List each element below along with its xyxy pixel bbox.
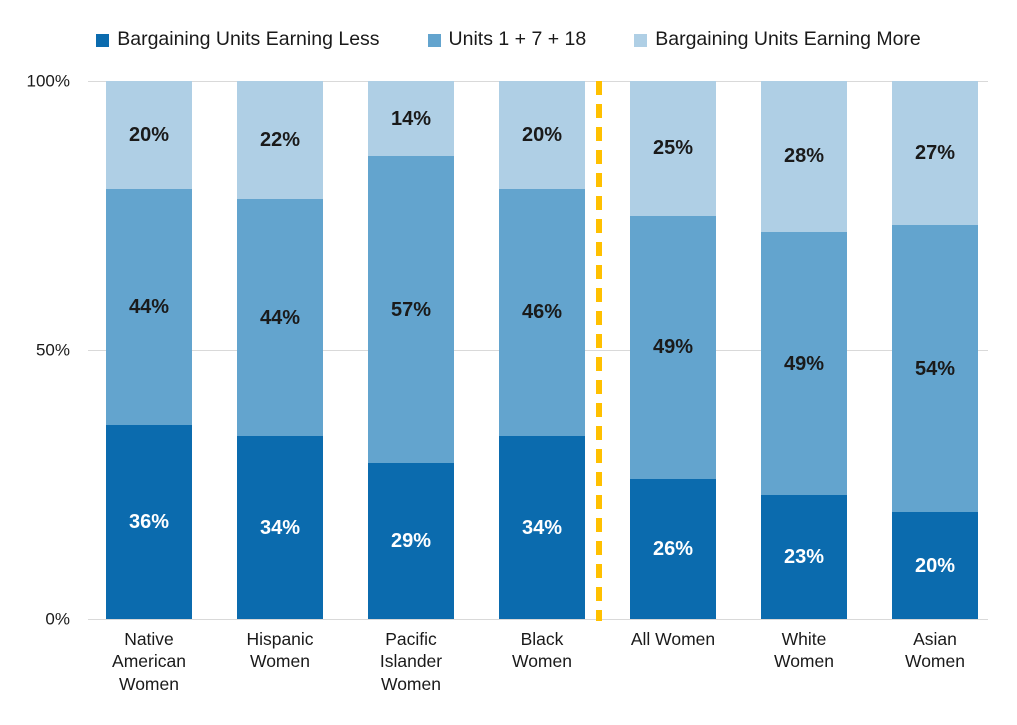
bar-group-pacific-islander-women[interactable]: 14% 57% 29% — [368, 81, 454, 619]
legend-swatch-icon — [428, 34, 441, 47]
x-axis-tick-pacific-islander-women: Pacific Islander Women — [353, 628, 469, 695]
x-axis-tick-line: White — [746, 628, 862, 650]
y-axis-tick-label: 100% — [27, 73, 70, 90]
legend-swatch-icon — [634, 34, 647, 47]
bar-segment-earning-less[interactable]: 29% — [368, 463, 454, 619]
x-axis-tick-line: Hispanic — [222, 628, 338, 650]
x-axis-tick-line: Pacific — [353, 628, 469, 650]
bar-segment-label: 54% — [915, 359, 955, 379]
y-axis: 100% 50% 0% — [0, 81, 80, 620]
bar-segment-units[interactable]: 46% — [499, 189, 585, 437]
bar-segment-earning-more[interactable]: 14% — [368, 81, 454, 156]
bar-segment-earning-more[interactable]: 20% — [106, 81, 192, 189]
bar-segment-label: 28% — [784, 146, 824, 166]
x-axis-tick-native-american-women: Native American Women — [91, 628, 207, 695]
bar-group-black-women[interactable]: 20% 46% 34% — [499, 81, 585, 619]
bar-series-container: 20% 44% 36% 22% 44% 34% 14% 57% 29% 20% … — [88, 81, 988, 620]
x-axis-tick-line: Women — [877, 650, 993, 672]
bar-segment-label: 14% — [391, 109, 431, 129]
bar-group-hispanic-women[interactable]: 22% 44% 34% — [237, 81, 323, 619]
bar-group-native-american-women[interactable]: 20% 44% 36% — [106, 81, 192, 619]
bar-group-all-women[interactable]: 25% 49% 26% — [630, 81, 716, 619]
x-axis: Native American Women Hispanic Women Pac… — [88, 628, 988, 723]
legend-item-earning-more[interactable]: Bargaining Units Earning More — [634, 30, 921, 50]
x-axis-tick-line: Black — [484, 628, 600, 650]
bar-segment-earning-more[interactable]: 20% — [499, 81, 585, 189]
bar-segment-units[interactable]: 57% — [368, 156, 454, 463]
legend-item-units-1-7-18[interactable]: Units 1 + 7 + 18 — [428, 30, 587, 50]
bar-segment-label: 25% — [653, 138, 693, 158]
bar-segment-label: 34% — [260, 518, 300, 538]
bar-segment-units[interactable]: 49% — [761, 232, 847, 496]
x-axis-tick-line: Women — [484, 650, 600, 672]
x-axis-tick-white-women: White Women — [746, 628, 862, 673]
x-axis-tick-line: Women — [746, 650, 862, 672]
bar-segment-units[interactable]: 49% — [630, 216, 716, 480]
bar-segment-label: 36% — [129, 512, 169, 532]
x-axis-tick-line: Women — [222, 650, 338, 672]
bar-segment-label: 29% — [391, 531, 431, 551]
x-axis-tick-line: Asian — [877, 628, 993, 650]
x-axis-tick-line: American — [91, 650, 207, 672]
bar-segment-units[interactable]: 44% — [237, 199, 323, 436]
legend-item-label: Bargaining Units Earning Less — [117, 30, 379, 50]
x-axis-tick-line: Women — [91, 673, 207, 695]
x-axis-tick-line: Islander — [353, 650, 469, 672]
bar-segment-label: 23% — [784, 547, 824, 567]
bar-segment-earning-more[interactable]: 22% — [237, 81, 323, 199]
bar-segment-earning-more[interactable]: 28% — [761, 81, 847, 232]
bar-segment-earning-more[interactable]: 27% — [892, 81, 978, 225]
bar-segment-label: 57% — [391, 300, 431, 320]
bar-segment-label: 20% — [522, 125, 562, 145]
bar-segment-label: 27% — [915, 143, 955, 163]
bar-segment-label: 20% — [915, 556, 955, 576]
bar-segment-label: 46% — [522, 302, 562, 322]
x-axis-tick-asian-women: Asian Women — [877, 628, 993, 673]
bar-segment-earning-less[interactable]: 23% — [761, 495, 847, 619]
bar-segment-units[interactable]: 54% — [892, 225, 978, 513]
legend-swatch-icon — [96, 34, 109, 47]
bar-segment-label: 22% — [260, 130, 300, 150]
bar-group-asian-women[interactable]: 27% 54% 20% — [892, 81, 978, 619]
x-axis-tick-hispanic-women: Hispanic Women — [222, 628, 338, 673]
y-axis-tick-label: 0% — [45, 611, 70, 628]
x-axis-tick-all-women: All Women — [615, 628, 731, 650]
chart-legend: Bargaining Units Earning Less Units 1 + … — [0, 26, 1017, 54]
y-axis-tick-label: 50% — [36, 342, 70, 359]
x-axis-tick-line: Native — [91, 628, 207, 650]
bar-segment-earning-less[interactable]: 34% — [499, 436, 585, 619]
bar-segment-label: 44% — [260, 308, 300, 328]
legend-item-label: Units 1 + 7 + 18 — [449, 30, 587, 50]
bar-segment-label: 49% — [653, 337, 693, 357]
bar-segment-earning-less[interactable]: 26% — [630, 479, 716, 619]
bar-segment-earning-more[interactable]: 25% — [630, 81, 716, 216]
bar-segment-earning-less[interactable]: 20% — [892, 512, 978, 619]
bar-segment-units[interactable]: 44% — [106, 189, 192, 426]
bar-segment-earning-less[interactable]: 36% — [106, 425, 192, 619]
legend-item-label: Bargaining Units Earning More — [655, 30, 921, 50]
bar-segment-label: 44% — [129, 297, 169, 317]
bar-segment-label: 49% — [784, 354, 824, 374]
group-divider-dashed-line — [596, 81, 602, 621]
bar-segment-earning-less[interactable]: 34% — [237, 436, 323, 619]
x-axis-tick-black-women: Black Women — [484, 628, 600, 673]
bar-segment-label: 34% — [522, 518, 562, 538]
bar-segment-label: 20% — [129, 125, 169, 145]
x-axis-tick-line: Women — [353, 673, 469, 695]
bar-segment-label: 26% — [653, 539, 693, 559]
x-axis-tick-line: All Women — [615, 628, 731, 650]
bar-group-white-women[interactable]: 28% 49% 23% — [761, 81, 847, 619]
legend-item-earning-less[interactable]: Bargaining Units Earning Less — [96, 30, 379, 50]
